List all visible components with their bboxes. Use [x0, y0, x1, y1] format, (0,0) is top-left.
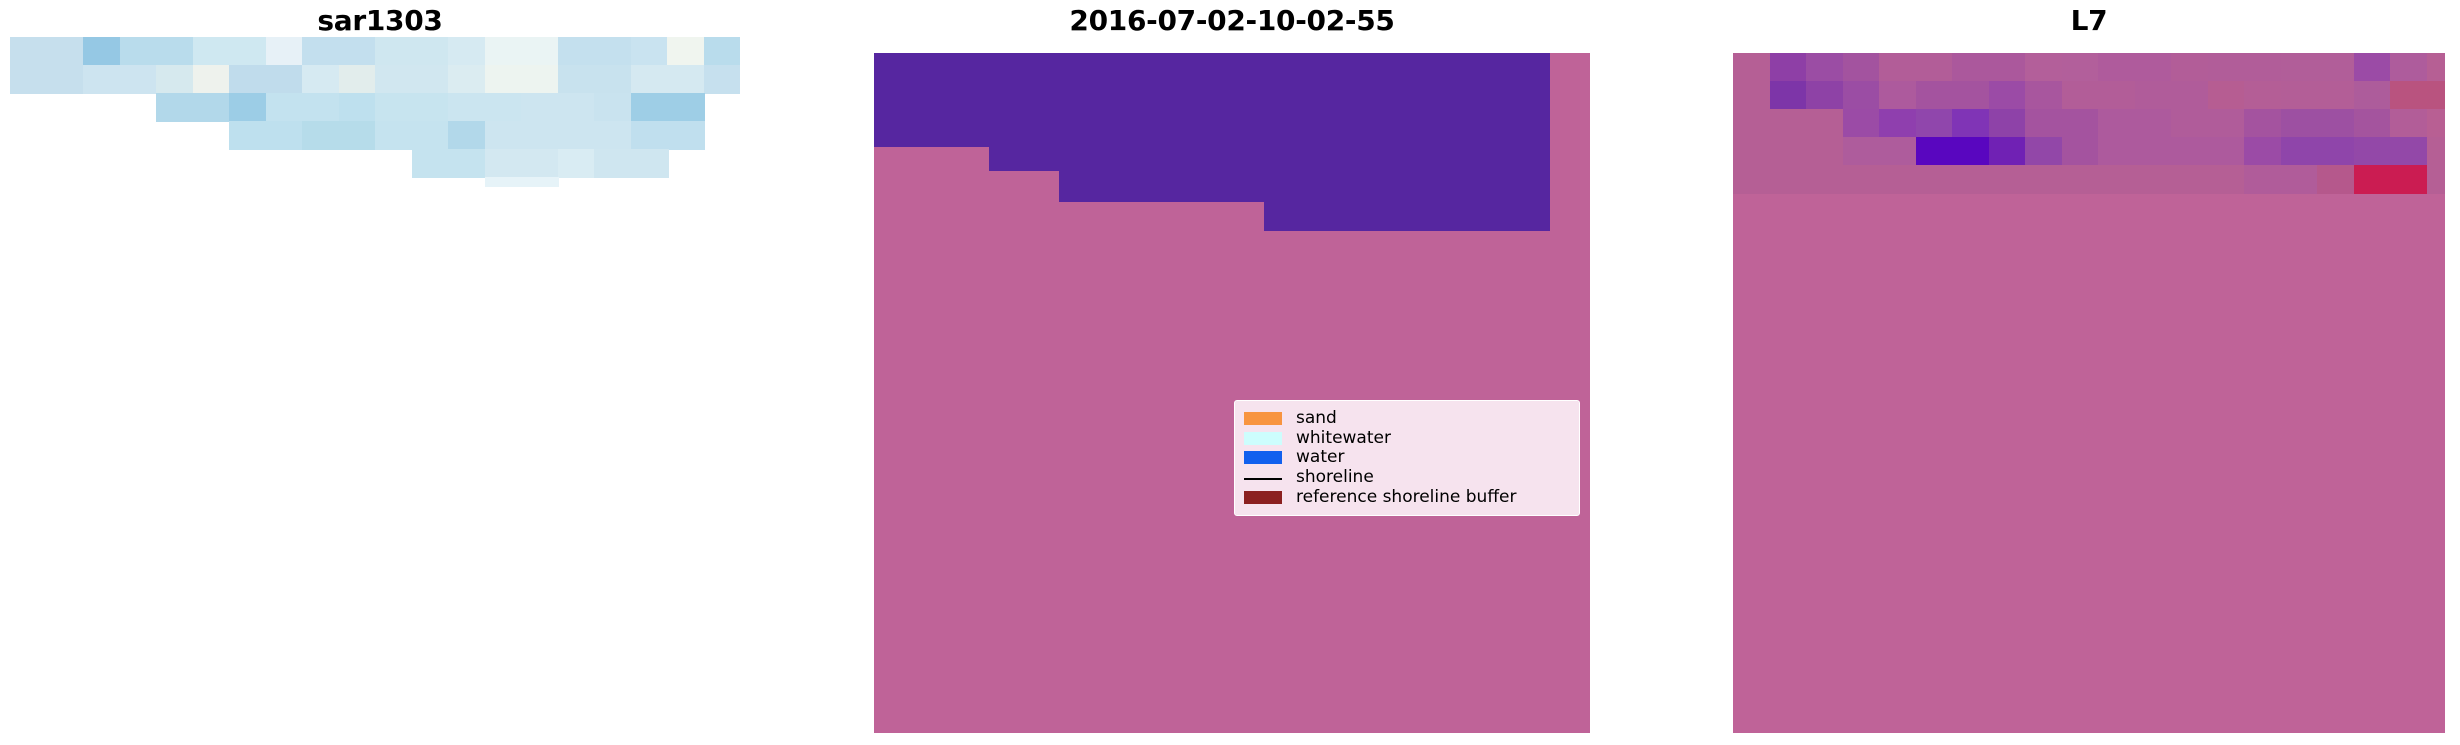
raster-cell	[704, 65, 740, 94]
raster-cell	[2135, 137, 2173, 166]
raster-cell	[2317, 81, 2355, 110]
raster-cell	[412, 121, 450, 150]
raster-cell	[2244, 53, 2282, 82]
raster-cell	[10, 65, 48, 94]
raster-cell	[1733, 53, 1771, 82]
raster-cell	[266, 65, 304, 94]
water-mask-block	[1264, 53, 1551, 231]
raster-cell	[2098, 53, 2136, 82]
raster-cell	[339, 121, 377, 150]
raster-cell	[1806, 53, 1844, 82]
raster-cell	[2135, 165, 2173, 194]
raster-cell	[521, 177, 559, 187]
line-swatch-icon	[1244, 471, 1282, 484]
legend-item: shoreline	[1244, 468, 1569, 488]
raster-cell	[2208, 137, 2246, 166]
panel-l7-title: L7	[1733, 4, 2445, 38]
raster-cell	[2281, 137, 2319, 166]
raster-cell	[2281, 81, 2319, 110]
raster-cell	[558, 93, 596, 122]
axes-timestamp	[874, 53, 1590, 733]
raster-cell	[558, 149, 596, 178]
panel-timestamp: 2016-07-02-10-02-55	[840, 0, 1630, 745]
raster-cell	[1806, 81, 1844, 110]
raster-cell	[2098, 165, 2136, 194]
raster-cell	[339, 93, 377, 122]
raster-cell	[193, 93, 231, 122]
raster-cell	[120, 65, 158, 94]
raster-cell	[631, 121, 669, 150]
raster-cell	[1879, 53, 1917, 82]
raster-cell	[448, 65, 486, 94]
raster-cell	[2171, 137, 2209, 166]
raster-cell	[266, 121, 304, 150]
raster-cell	[1989, 137, 2027, 166]
raster-cell	[2208, 53, 2246, 82]
raster-cell	[2281, 109, 2319, 138]
raster-cell	[2025, 53, 2063, 82]
raster-cell	[667, 93, 705, 122]
raster-cell	[667, 37, 705, 66]
raster-cell	[485, 177, 523, 187]
panel-sar1303-title: sar1303	[0, 4, 760, 38]
raster-cell	[521, 65, 559, 94]
raster-cell	[2317, 109, 2355, 138]
raster-cell	[2171, 81, 2209, 110]
raster-cell	[2208, 165, 2246, 194]
raster-cell	[2354, 137, 2392, 166]
raster-cell	[1770, 137, 1808, 166]
raster-cell	[412, 149, 450, 178]
raster-cell	[448, 93, 486, 122]
raster-cell	[1916, 165, 1954, 194]
raster-cell	[1733, 137, 1771, 166]
water-mask-block	[1059, 53, 1265, 202]
raster-cell	[1952, 165, 1990, 194]
raster-cell	[2317, 137, 2355, 166]
raster-cell	[1733, 165, 1771, 194]
legend-item-label: whitewater	[1296, 429, 1391, 448]
panel-l7: L7	[1700, 0, 2460, 745]
raster-cell	[2281, 165, 2319, 194]
raster-cell	[2062, 109, 2100, 138]
raster-cell	[2390, 53, 2428, 82]
raster-cell	[1952, 109, 1990, 138]
raster-cell	[1879, 81, 1917, 110]
raster-cell	[1952, 137, 1990, 166]
legend-item: reference shoreline buffer	[1244, 487, 1569, 507]
raster-cell	[2317, 165, 2355, 194]
raster-cell	[1806, 109, 1844, 138]
raster-cell	[2427, 81, 2445, 110]
raster-cell	[83, 65, 121, 94]
raster-cell	[2244, 81, 2282, 110]
raster-cell	[558, 37, 596, 66]
raster-cell	[375, 93, 413, 122]
raster-cell	[2427, 53, 2445, 82]
raster-cell	[1989, 53, 2027, 82]
raster-cell	[448, 149, 486, 178]
water-mask-block	[874, 53, 990, 147]
raster-cell	[1989, 109, 2027, 138]
raster-cell	[266, 93, 304, 122]
raster-cell	[193, 65, 231, 94]
raster-cell	[631, 149, 669, 178]
raster-cell	[83, 37, 121, 66]
raster-cell	[667, 121, 705, 150]
raster-cell	[594, 65, 632, 94]
raster-cell	[558, 121, 596, 150]
raster-cell	[156, 37, 194, 66]
raster-cell	[156, 93, 194, 122]
raster-cell	[2208, 81, 2246, 110]
color-swatch-icon	[1244, 432, 1282, 445]
land-mask-strip	[1550, 53, 1590, 733]
panel-sar1303: sar1303	[0, 0, 760, 745]
raster-cell	[558, 65, 596, 94]
raster-cell	[2244, 165, 2282, 194]
raster-cell	[2135, 81, 2173, 110]
legend-item-label: reference shoreline buffer	[1296, 488, 1517, 507]
raster-cell	[2062, 165, 2100, 194]
raster-cell	[1879, 109, 1917, 138]
raster-cell	[2171, 165, 2209, 194]
legend-item: sand	[1244, 409, 1569, 429]
raster-cell	[521, 149, 559, 178]
legend-item-label: sand	[1296, 409, 1337, 428]
raster-cell	[1916, 109, 1954, 138]
raster-cell	[2135, 53, 2173, 82]
raster-cell	[485, 149, 523, 178]
raster-cell	[2354, 53, 2392, 82]
raster-cell	[1916, 53, 1954, 82]
raster-cell	[2025, 165, 2063, 194]
raster-cell	[1989, 81, 2027, 110]
raster-cell	[2244, 109, 2282, 138]
raster-cell	[1879, 165, 1917, 194]
raster-cell	[521, 121, 559, 150]
raster-cell	[2025, 137, 2063, 166]
raster-cell	[1843, 53, 1881, 82]
raster-cell	[2062, 137, 2100, 166]
legend-item: whitewater	[1244, 429, 1569, 449]
raster-cell	[229, 121, 267, 150]
legend-item-label: shoreline	[1296, 468, 1374, 487]
raster-cell	[631, 93, 669, 122]
raster-cell	[1916, 137, 1954, 166]
raster-cell	[448, 121, 486, 150]
raster-cell	[375, 65, 413, 94]
raster-cell	[229, 93, 267, 122]
raster-cell	[1733, 109, 1771, 138]
raster-cell	[1952, 53, 1990, 82]
raster-cell	[1770, 53, 1808, 82]
raster-cell	[2244, 137, 2282, 166]
raster-cell	[2390, 81, 2428, 110]
legend-item-label: water	[1296, 448, 1344, 467]
raster-cell	[2062, 81, 2100, 110]
raster-cell	[485, 93, 523, 122]
raster-cell	[2427, 109, 2445, 138]
raster-cell	[2354, 109, 2392, 138]
raster-cell	[1879, 137, 1917, 166]
raster-cell	[339, 65, 377, 94]
raster-cell	[2025, 109, 2063, 138]
color-swatch-icon	[1244, 451, 1282, 464]
color-swatch-icon	[1244, 412, 1282, 425]
raster-cell	[2390, 165, 2428, 194]
raster-cell	[339, 37, 377, 66]
raster-cell	[302, 121, 340, 150]
raster-cell	[521, 93, 559, 122]
color-swatch-icon	[1244, 491, 1282, 504]
raster-cell	[302, 37, 340, 66]
raster-cell	[1952, 81, 1990, 110]
raster-cell	[485, 121, 523, 150]
raster-cell	[193, 37, 231, 66]
raster-cell	[1843, 109, 1881, 138]
raster-cell	[2317, 53, 2355, 82]
raster-cell	[266, 37, 304, 66]
raster-cell	[1806, 137, 1844, 166]
raster-cell	[2427, 165, 2445, 194]
raster-cell	[2354, 165, 2392, 194]
raster-cell	[412, 93, 450, 122]
raster-cell	[2025, 81, 2063, 110]
raster-cell	[1843, 137, 1881, 166]
water-mask-block	[989, 53, 1060, 171]
raster-cell	[47, 37, 85, 66]
raster-cell	[229, 65, 267, 94]
figure-canvas: sar1303 2016-07-02-10-02-55 L7 sand whit…	[0, 0, 2460, 745]
raster-cell	[2390, 137, 2428, 166]
legend-item: water	[1244, 448, 1569, 468]
raster-cell	[2098, 81, 2136, 110]
raster-cell	[120, 37, 158, 66]
raster-cell	[10, 37, 48, 66]
raster-cell	[2171, 109, 2209, 138]
raster-cell	[1843, 81, 1881, 110]
raster-cell	[2281, 53, 2319, 82]
raster-cell	[2098, 109, 2136, 138]
axes-l7	[1733, 53, 2445, 733]
raster-cell	[521, 37, 559, 66]
raster-cell	[156, 65, 194, 94]
raster-cell	[2208, 109, 2246, 138]
raster-cell	[485, 65, 523, 94]
axes-sar1303	[10, 37, 740, 187]
raster-cell	[302, 65, 340, 94]
raster-cell	[412, 65, 450, 94]
raster-cell	[229, 37, 267, 66]
raster-cell	[704, 37, 740, 66]
raster-cell	[631, 65, 669, 94]
raster-cell	[2135, 109, 2173, 138]
raster-cell	[594, 37, 632, 66]
raster-cell	[302, 93, 340, 122]
raster-cell	[485, 37, 523, 66]
raster-cell	[2427, 137, 2445, 166]
raster-cell	[1733, 81, 1771, 110]
raster-cell	[412, 37, 450, 66]
raster-cell	[1770, 165, 1808, 194]
raster-cell	[2354, 81, 2392, 110]
raster-cell	[1843, 165, 1881, 194]
raster-cell	[1916, 81, 1954, 110]
raster-cell	[47, 65, 85, 94]
raster-cell	[2062, 53, 2100, 82]
raster-cell	[667, 65, 705, 94]
raster-cell	[1770, 81, 1808, 110]
raster-cell	[375, 37, 413, 66]
raster-cell	[2098, 137, 2136, 166]
raster-cell	[1770, 109, 1808, 138]
raster-cell	[1989, 165, 2027, 194]
raster-cell	[2171, 53, 2209, 82]
raster-cell	[1806, 165, 1844, 194]
raster-cell	[2390, 109, 2428, 138]
raster-cell	[448, 37, 486, 66]
raster-cell	[375, 121, 413, 150]
panel-timestamp-title: 2016-07-02-10-02-55	[874, 4, 1590, 38]
raster-cell	[594, 121, 632, 150]
raster-cell	[594, 93, 632, 122]
raster-cell	[631, 37, 669, 66]
map-legend: sand whitewater water shoreline referenc…	[1234, 400, 1580, 516]
raster-cell	[594, 149, 632, 178]
